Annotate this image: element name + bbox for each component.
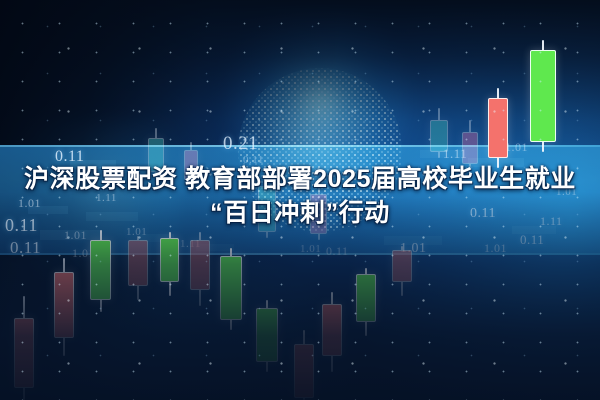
headline-line-1: 沪深股票配资 教育部部署2025届高校毕业生就业 bbox=[8, 162, 592, 196]
banner-image: 0.110.211.111.011.011.110.111.011.010.11… bbox=[0, 0, 600, 400]
headline-line-2: “百日冲刺”行动 bbox=[8, 196, 592, 230]
headline: 沪深股票配资 教育部部署2025届高校毕业生就业 “百日冲刺”行动 bbox=[0, 162, 600, 230]
